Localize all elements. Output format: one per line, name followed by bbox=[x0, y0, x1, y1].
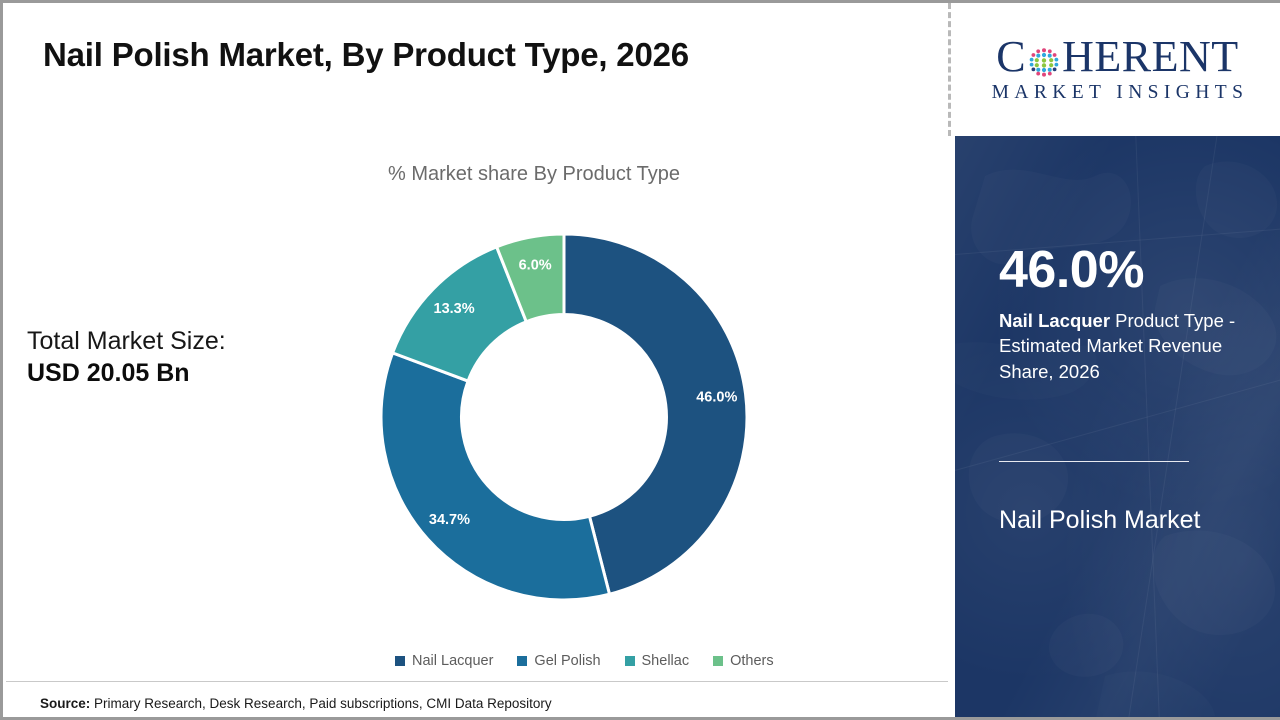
right-column: C bbox=[955, 3, 1280, 720]
legend-item[interactable]: Nail Lacquer bbox=[395, 653, 493, 669]
footer-divider bbox=[6, 681, 948, 682]
legend-item[interactable]: Gel Polish bbox=[517, 653, 600, 669]
globe-icon bbox=[1027, 43, 1061, 77]
source-label: Source: bbox=[40, 696, 90, 711]
donut-slices bbox=[381, 234, 747, 600]
donut-slice-gel-polish[interactable] bbox=[381, 353, 610, 600]
chart-subtitle: % Market share By Product Type bbox=[388, 163, 680, 186]
highlight-stat-description: Nail Lacquer Product Type - Estimated Ma… bbox=[999, 308, 1271, 384]
highlight-stat-segment: Nail Lacquer bbox=[999, 310, 1110, 331]
brand-logo: C bbox=[955, 3, 1280, 136]
legend-label: Shellac bbox=[642, 653, 690, 669]
logo-letter-c: C bbox=[996, 35, 1026, 79]
panel-market-name: Nail Polish Market bbox=[999, 506, 1200, 535]
panel-divider-rule bbox=[999, 461, 1189, 462]
logo-text-rest: HERENT bbox=[1062, 35, 1239, 79]
infographic-figure: Nail Polish Market, By Product Type, 202… bbox=[0, 0, 1280, 720]
highlight-stat-value: 46.0% bbox=[999, 244, 1144, 296]
legend-swatch-icon bbox=[713, 656, 723, 666]
donut-slice-label: 13.3% bbox=[434, 301, 475, 317]
legend-item[interactable]: Shellac bbox=[625, 653, 690, 669]
donut-slice-label: 46.0% bbox=[696, 390, 737, 406]
total-market-size-block: Total Market Size: USD 20.05 Bn bbox=[27, 325, 226, 389]
donut-chart: 46.0%34.7%13.3%6.0% bbox=[381, 231, 747, 603]
legend-label: Gel Polish bbox=[534, 653, 600, 669]
source-text: Primary Research, Desk Research, Paid su… bbox=[90, 696, 551, 711]
page-title: Nail Polish Market, By Product Type, 202… bbox=[43, 36, 689, 74]
legend-label: Nail Lacquer bbox=[412, 653, 493, 669]
donut-chart-svg: 46.0%34.7%13.3%6.0% bbox=[381, 231, 747, 603]
highlight-panel: 46.0% Nail Lacquer Product Type - Estima… bbox=[955, 136, 1280, 720]
legend-item[interactable]: Others bbox=[713, 653, 774, 669]
legend-swatch-icon bbox=[625, 656, 635, 666]
legend-label: Others bbox=[730, 653, 774, 669]
source-note: Source: Primary Research, Desk Research,… bbox=[40, 696, 552, 711]
chart-legend: Nail LacquerGel PolishShellacOthers bbox=[395, 653, 774, 669]
legend-swatch-icon bbox=[517, 656, 527, 666]
panel-map-texture bbox=[955, 136, 1280, 720]
legend-swatch-icon bbox=[395, 656, 405, 666]
donut-slice-label: 6.0% bbox=[519, 258, 552, 274]
logo-wordmark: C bbox=[996, 35, 1238, 79]
panel-divider bbox=[948, 3, 951, 136]
total-market-size-value: USD 20.05 Bn bbox=[27, 357, 226, 389]
donut-slice-label: 34.7% bbox=[429, 512, 470, 528]
total-market-size-label: Total Market Size: bbox=[27, 325, 226, 357]
logo-tagline: MARKET INSIGHTS bbox=[987, 82, 1249, 104]
